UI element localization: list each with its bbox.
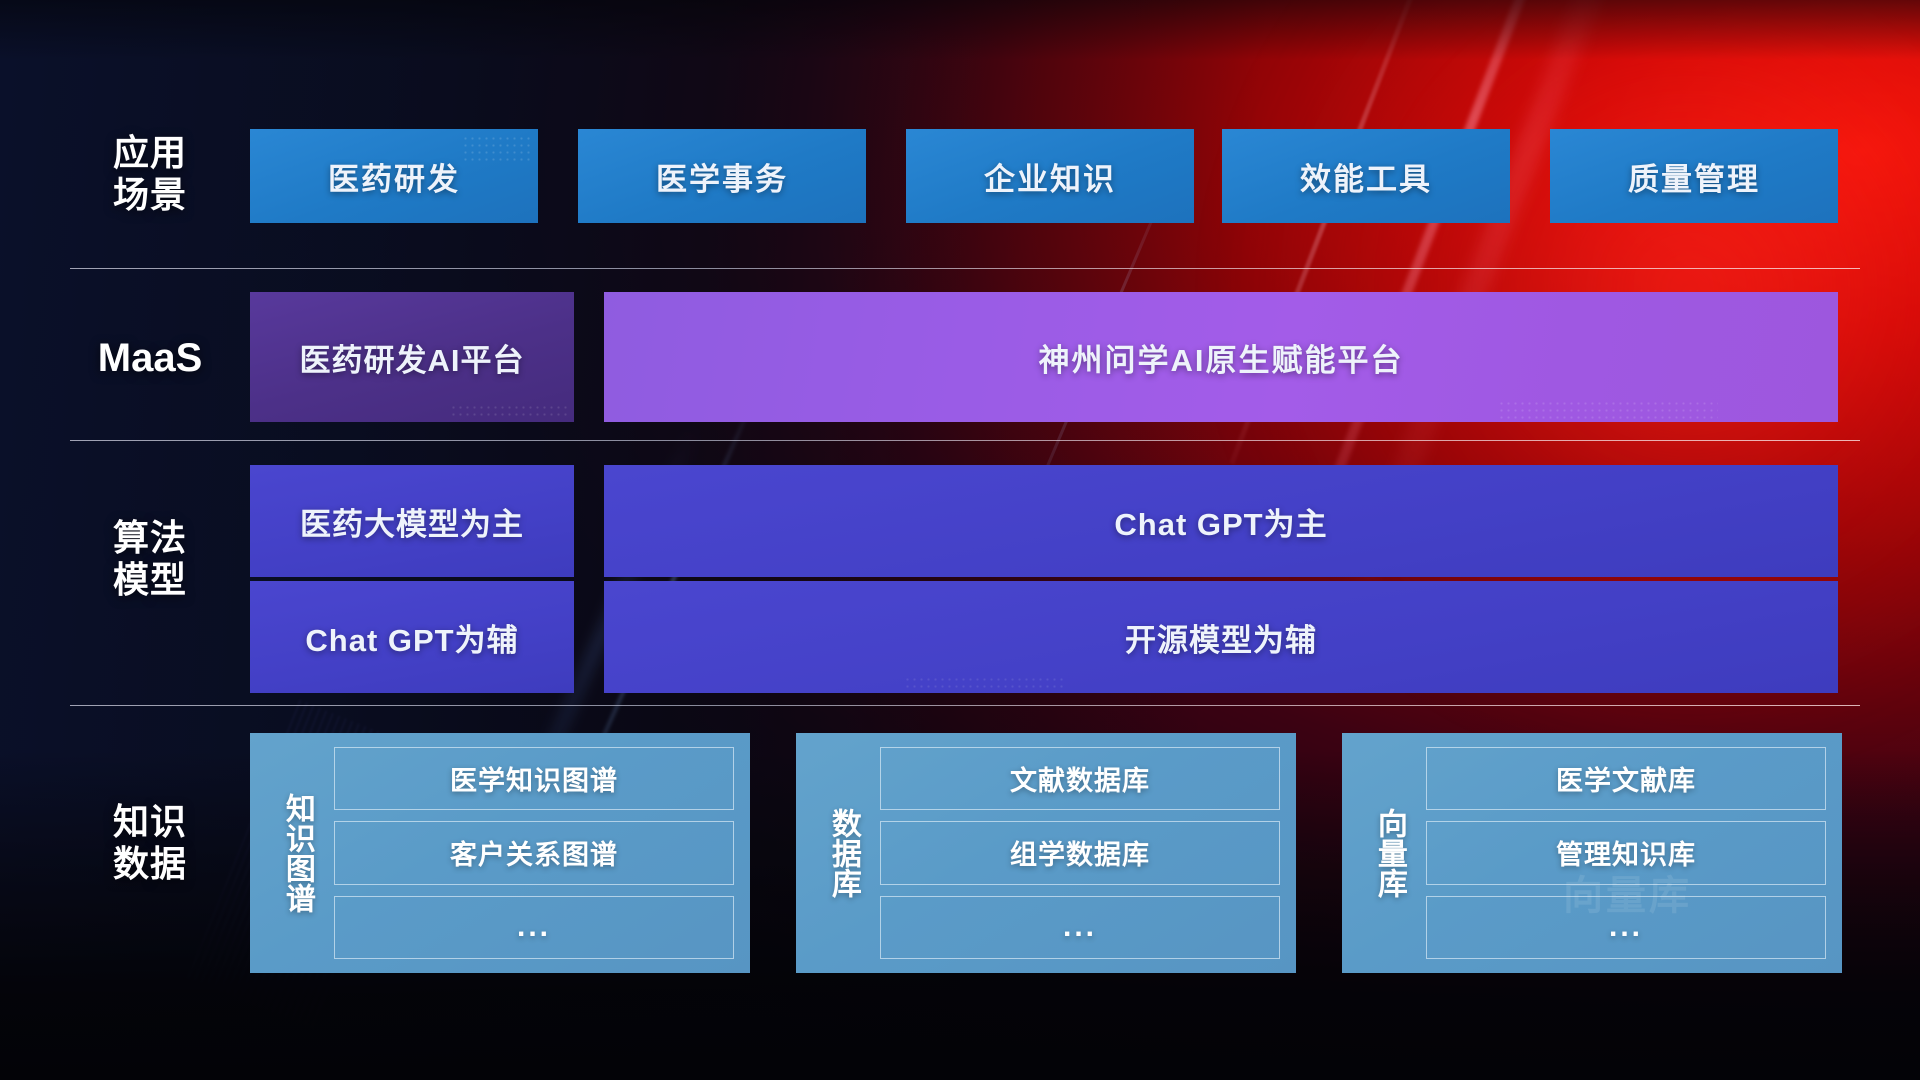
decor-dots: [904, 676, 1064, 690]
application-box-5-label: 质量管理: [1628, 154, 1760, 199]
model-box-secondary-domain-label: Chat GPT为辅: [305, 615, 518, 660]
maas-enablement-label: 神州问学AI原生赋能平台: [1039, 335, 1404, 380]
knowledge-item-more[interactable]: ...: [334, 896, 734, 959]
application-box-3[interactable]: 企业知识: [906, 129, 1194, 223]
maas-platform-label: 医药研发AI平台: [300, 335, 525, 380]
knowledge-item[interactable]: 管理知识库: [1426, 821, 1826, 884]
knowledge-panel-graph[interactable]: 知识图谱 医学知识图谱 客户关系图谱 ...: [250, 733, 750, 973]
knowledge-panel-database-items: 文献数据库 组学数据库 ...: [874, 747, 1280, 959]
model-box-primary-domain-label: 医药大模型为主: [300, 499, 524, 544]
model-box-secondary-general-label: 开源模型为辅: [1125, 615, 1317, 660]
application-box-1[interactable]: 医药研发: [250, 129, 538, 223]
model-box-secondary-general[interactable]: 开源模型为辅: [604, 581, 1838, 693]
application-box-4-label: 效能工具: [1300, 154, 1432, 199]
background-top-shade: [0, 0, 1920, 60]
model-box-secondary-domain[interactable]: Chat GPT为辅: [250, 581, 574, 693]
application-box-4[interactable]: 效能工具: [1222, 129, 1510, 223]
knowledge-panel-vector[interactable]: 向量库 医学文献库 管理知识库 ... 向量库: [1342, 733, 1842, 973]
knowledge-item[interactable]: 文献数据库: [880, 747, 1280, 810]
application-box-2[interactable]: 医学事务: [578, 129, 866, 223]
slide-canvas: 应用 场景 医药研发 医学事务 企业知识 效能工具 质量管理 MaaS 医药研发…: [0, 0, 1920, 1080]
knowledge-item[interactable]: 客户关系图谱: [334, 821, 734, 884]
knowledge-item-more[interactable]: ...: [880, 896, 1280, 959]
divider-maas-model: [70, 440, 1860, 441]
decor-dots: [450, 404, 570, 420]
decor-dots: [1498, 400, 1718, 420]
maas-enablement-bar[interactable]: 神州问学AI原生赋能平台: [604, 292, 1838, 422]
knowledge-item-more[interactable]: ...: [1426, 896, 1826, 959]
row-label-model: 算法 模型: [70, 517, 230, 601]
knowledge-item[interactable]: 组学数据库: [880, 821, 1280, 884]
application-box-3-label: 企业知识: [984, 154, 1116, 199]
knowledge-item[interactable]: 医学文献库: [1426, 747, 1826, 810]
application-box-5[interactable]: 质量管理: [1550, 129, 1838, 223]
decor-dots: [462, 135, 532, 161]
knowledge-item[interactable]: 医学知识图谱: [334, 747, 734, 810]
row-label-application: 应用 场景: [70, 132, 230, 216]
row-label-knowledge: 知识 数据: [70, 801, 230, 885]
model-box-primary-general-label: Chat GPT为主: [1114, 499, 1327, 544]
model-box-primary-domain[interactable]: 医药大模型为主: [250, 465, 574, 577]
row-label-maas: MaaS: [70, 335, 230, 381]
model-box-primary-general[interactable]: Chat GPT为主: [604, 465, 1838, 577]
knowledge-panel-vector-items: 医学文献库 管理知识库 ...: [1420, 747, 1826, 959]
divider-model-knowledge: [70, 705, 1860, 706]
knowledge-panel-graph-title: 知识图谱: [266, 747, 328, 959]
knowledge-panel-database-title: 数据库: [812, 747, 874, 959]
knowledge-panel-vector-title: 向量库: [1358, 747, 1420, 959]
knowledge-panel-database[interactable]: 数据库 文献数据库 组学数据库 ...: [796, 733, 1296, 973]
application-box-1-label: 医药研发: [328, 154, 460, 199]
application-box-2-label: 医学事务: [656, 154, 788, 199]
divider-application-maas: [70, 268, 1860, 269]
maas-platform-box[interactable]: 医药研发AI平台: [250, 292, 574, 422]
knowledge-panel-graph-items: 医学知识图谱 客户关系图谱 ...: [328, 747, 734, 959]
